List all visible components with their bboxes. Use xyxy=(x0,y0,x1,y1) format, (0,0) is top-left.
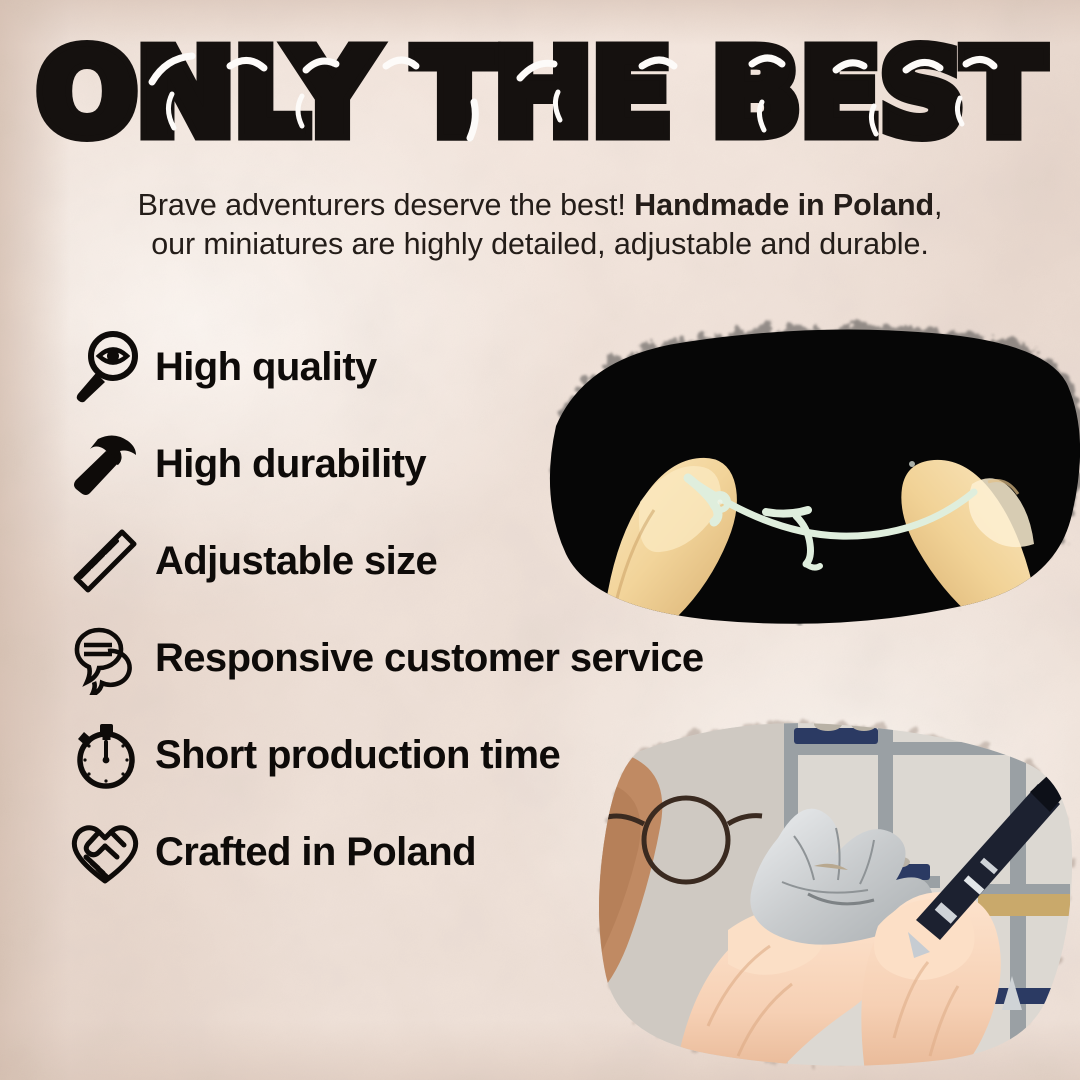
subtitle-line1-tail: , xyxy=(934,188,942,222)
subtitle-line1-bold: Handmade in Poland xyxy=(634,188,934,222)
ruler-icon xyxy=(62,518,148,604)
list-item: Short production time xyxy=(62,712,822,809)
list-item: Crafted in Poland xyxy=(62,809,822,906)
list-item-label: Short production time xyxy=(155,712,560,798)
feature-list: High quality High durability xyxy=(62,324,822,906)
list-item-label: Adjustable size xyxy=(155,518,437,604)
heart-handshake-icon xyxy=(62,809,148,895)
hammer-icon xyxy=(62,421,148,507)
list-item-label: Responsive customer service xyxy=(155,615,704,701)
subtitle-line1-plain: Brave adventurers deserve the best! xyxy=(138,188,635,222)
page-title: ONLY THE BEST xyxy=(0,34,1080,152)
list-item-label: High quality xyxy=(155,324,377,410)
list-item-label: High durability xyxy=(155,421,426,507)
stopwatch-icon xyxy=(62,712,148,798)
speech-bubbles-icon xyxy=(62,615,148,701)
list-item: High durability xyxy=(62,421,822,518)
subtitle: Brave adventurers deserve the best! Hand… xyxy=(60,186,1020,264)
promotional-graphic: ONLY THE BEST xyxy=(0,0,1080,1080)
list-item: Adjustable size xyxy=(62,518,822,615)
list-item: High quality xyxy=(62,324,822,421)
subtitle-line2: our miniatures are highly detailed, adju… xyxy=(151,227,928,261)
list-item: Responsive customer service xyxy=(62,615,822,712)
list-item-label: Crafted in Poland xyxy=(155,809,476,895)
page-title-wrap: ONLY THE BEST xyxy=(0,0,1080,175)
magnifier-eye-icon xyxy=(62,324,148,410)
